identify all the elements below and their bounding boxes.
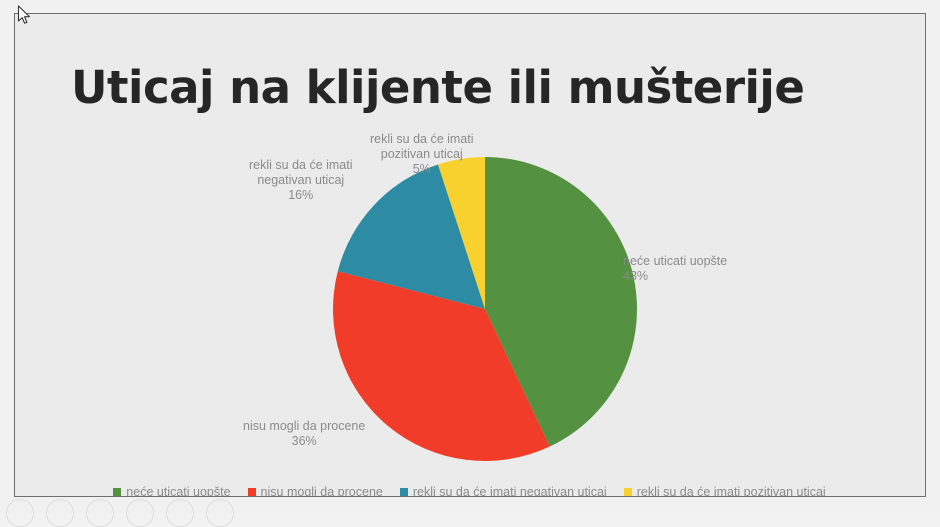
- ghost-circle: [6, 499, 34, 527]
- pie-chart[interactable]: neće uticati uopšte 43% nisu mogli da pr…: [15, 14, 924, 495]
- legend-item-label: rekli su da će imati negativan uticaj: [413, 485, 607, 497]
- ghost-circle: [206, 499, 234, 527]
- pie-label-text: nisu mogli da procene: [243, 419, 365, 433]
- legend-item[interactable]: rekli su da će imati pozitivan uticaj: [624, 485, 826, 497]
- legend-swatch-icon: [400, 488, 408, 496]
- pie-label-percent: 43%: [623, 269, 727, 284]
- legend-swatch-icon: [624, 488, 632, 496]
- slide-canvas[interactable]: Uticaj na klijente ili mušterije neće ut…: [14, 13, 926, 497]
- legend-item[interactable]: nisu mogli da procene: [248, 485, 383, 497]
- pie-label-text: rekli su da će imati: [249, 158, 353, 172]
- ghost-circle: [126, 499, 154, 527]
- chart-legend: neće uticati uopštenisu mogli da procene…: [15, 485, 924, 497]
- legend-swatch-icon: [113, 488, 121, 496]
- legend-item-label: nisu mogli da procene: [261, 485, 383, 497]
- pie-label-nisu-mogli-da-procene: nisu mogli da procene 36%: [243, 419, 365, 449]
- legend-item[interactable]: neće uticati uopšte: [113, 485, 230, 497]
- pie-label-nece-uticati-uopste: neće uticati uopšte 43%: [623, 254, 727, 284]
- ghost-circle: [46, 499, 74, 527]
- pie-label-text: rekli su da će imati: [370, 132, 474, 146]
- pie-label-percent: 5%: [370, 162, 474, 177]
- legend-item-label: rekli su da će imati pozitivan uticaj: [637, 485, 826, 497]
- pie-label-negativan-uticaj: rekli su da će imati negativan uticaj 16…: [249, 158, 353, 203]
- legend-item[interactable]: rekli su da će imati negativan uticaj: [400, 485, 607, 497]
- pie-label-percent: 16%: [249, 188, 353, 203]
- pie-label-text-2: pozitivan uticaj: [370, 147, 474, 162]
- ghost-circle: [86, 499, 114, 527]
- ghost-circle: [166, 499, 194, 527]
- legend-swatch-icon: [248, 488, 256, 496]
- pie-label-pozitivan-uticaj: rekli su da će imati pozitivan uticaj 5%: [370, 132, 474, 177]
- bottom-thumbnail-strip: [0, 499, 940, 513]
- pie-label-percent: 36%: [243, 434, 365, 449]
- pie-label-text: neće uticati uopšte: [623, 254, 727, 268]
- legend-item-label: neće uticati uopšte: [126, 485, 230, 497]
- pie-label-text-2: negativan uticaj: [249, 173, 353, 188]
- pie-chart-graphic[interactable]: [325, 149, 645, 469]
